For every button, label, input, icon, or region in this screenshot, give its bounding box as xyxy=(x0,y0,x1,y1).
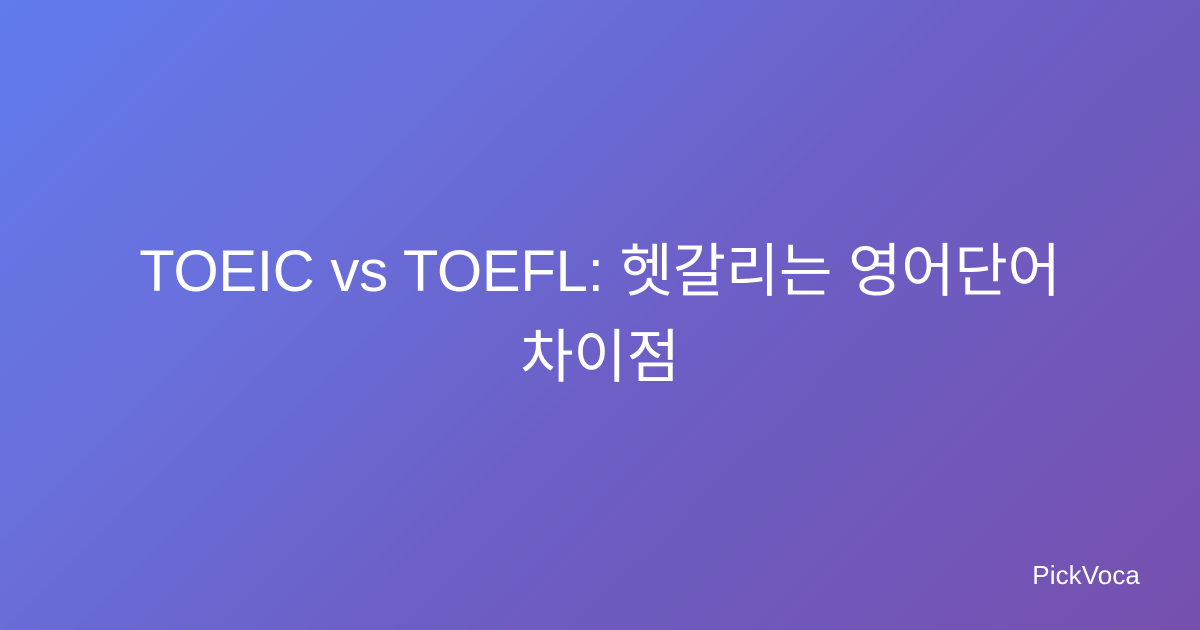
brand-watermark: PickVoca xyxy=(1032,562,1140,588)
og-banner-card: TOEIC vs TOEFL: 헷갈리는 영어단어 차이점 PickVoca xyxy=(0,0,1200,630)
page-title: TOEIC vs TOEFL: 헷갈리는 영어단어 차이점 xyxy=(95,229,1105,401)
headline-container: TOEIC vs TOEFL: 헷갈리는 영어단어 차이점 xyxy=(95,229,1105,401)
